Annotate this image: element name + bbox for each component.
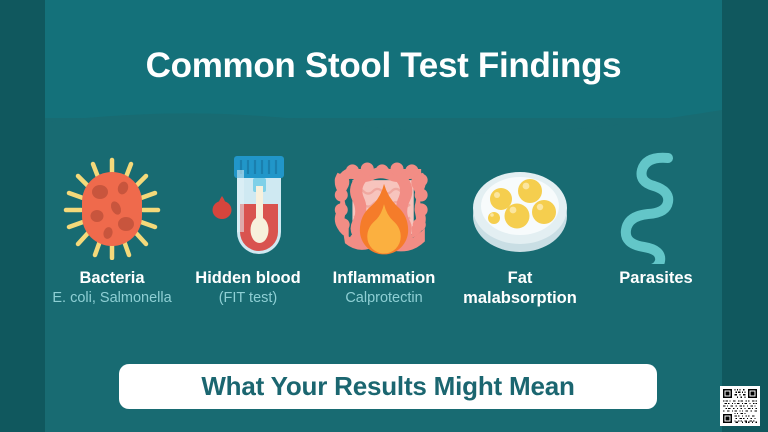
finding-label: Hidden blood: [195, 268, 300, 288]
wave-divider: [45, 108, 722, 148]
inflamed-intestine-icon: [332, 152, 436, 264]
finding-label: Bacteria: [79, 268, 144, 288]
finding-item-inflammation[interactable]: Inflammation Calprotectin: [317, 152, 451, 308]
results-banner-text: What Your Results Might Mean: [201, 371, 574, 402]
bacteria-icon: [60, 152, 164, 264]
finding-item-bacteria[interactable]: Bacteria E. coli, Salmonella: [45, 152, 179, 308]
finding-sublabel: Calprotectin: [345, 289, 422, 308]
findings-row: Bacteria E. coli, Salmonella: [45, 152, 723, 352]
finding-sublabel: E. coli, Salmonella: [52, 289, 171, 308]
finding-item-fat-malabsorption[interactable]: Fat malabsorption: [453, 152, 587, 309]
finding-label: Inflammation: [333, 268, 436, 288]
finding-label: Fat malabsorption: [454, 268, 586, 308]
finding-sublabel: (FIT test): [219, 289, 278, 308]
results-banner[interactable]: What Your Results Might Mean: [119, 364, 657, 409]
page-title: Common Stool Test Findings: [45, 45, 722, 87]
finding-item-parasites[interactable]: Parasites: [589, 152, 723, 289]
infographic-canvas: Common Stool Test Findings: [0, 0, 768, 432]
qr-code[interactable]: [720, 386, 760, 426]
stool-sample-tube-icon: [196, 152, 300, 264]
finding-label: Parasites: [619, 268, 692, 288]
finding-item-hidden-blood[interactable]: Hidden blood (FIT test): [181, 152, 315, 308]
fat-globules-dish-icon: [468, 152, 572, 264]
parasite-worm-icon: [604, 152, 708, 264]
